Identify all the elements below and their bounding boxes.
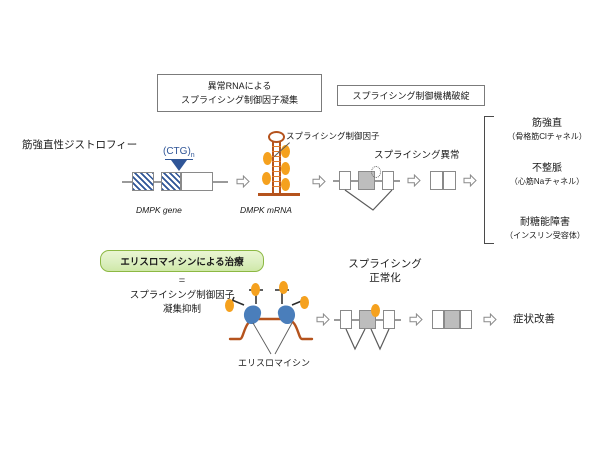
treatment-callout: エリスロマイシンによる治療 — [100, 250, 264, 272]
gene-utr-region — [181, 172, 213, 191]
outcome-item-glucose-intolerance: 耐糖能障害 （インスリン受容体） — [492, 217, 598, 242]
premrna-backbone-end-top — [394, 180, 400, 182]
product-segment-top — [430, 171, 443, 190]
figure-canvas: 異常RNAによる スプライシング制御因子凝集 スプライシング制御機構破綻 筋強直… — [0, 0, 600, 450]
callout-splicing-breakdown-label: スプライシング制御機構破綻 — [352, 89, 469, 103]
outcome-name: 不整脈 — [499, 163, 595, 175]
splicing-normal-label: スプライシング 正常化 — [330, 258, 440, 284]
premrna-exon-1-top — [339, 171, 351, 190]
callout-abnormal-rna-line2: スプライシング制御因子凝集 — [181, 93, 298, 107]
splicing-factor-oval — [263, 152, 272, 165]
splicing-factor-oval — [281, 178, 290, 191]
symptom-improvement-label: 症状改善 — [513, 313, 555, 325]
splicing-abnormal-label: スプライシング異常 — [374, 150, 460, 162]
ctg-repeat-subscript: n — [191, 152, 195, 159]
mrna-rung — [272, 146, 281, 147]
arrow-premrna-to-product-bottom — [409, 313, 423, 326]
treatment-callout-label: エリスロマイシンによる治療 — [120, 254, 243, 268]
outcome-item-myotonia: 筋強直 （骨格筋Clチャネル） — [499, 118, 595, 143]
product-segment-bottom — [432, 310, 444, 329]
premrna-exon-3-top — [382, 171, 394, 190]
premrna-backbone-end-bottom — [395, 319, 401, 321]
arrow-gene-to-mrna — [236, 175, 250, 188]
erythromycin-label: エリスロマイシン — [218, 357, 330, 369]
ctg-triangle-marker — [171, 160, 187, 171]
free-splicing-factor-oval — [251, 283, 260, 296]
disease-title: 筋強直性ジストロフィー — [22, 139, 137, 151]
gene-label: DMPK gene — [136, 204, 182, 216]
free-splicing-factor-oval — [300, 296, 309, 309]
equals-sign: = — [100, 275, 264, 287]
gene-exon-1 — [132, 172, 154, 191]
outcome-name: 筋強直 — [499, 118, 595, 130]
splicing-abnormal-text: スプライシング異常 — [374, 150, 460, 161]
callout-abnormal-rna-line1: 異常RNAによる — [208, 79, 272, 93]
callout-splicing-breakdown: スプライシング制御機構破綻 — [337, 85, 485, 106]
equals-sign-text: = — [179, 275, 185, 287]
premrna-exon-3-bottom — [383, 310, 395, 329]
arrow-mrna-to-premrna — [312, 175, 326, 188]
premrna-intron-2-bottom — [376, 319, 383, 321]
gene-label-text: DMPK gene — [136, 205, 182, 215]
callout-abnormal-rna: 異常RNAによる スプライシング制御因子凝集 — [157, 74, 322, 112]
mrna-label: DMPK mRNA — [240, 204, 292, 216]
splicing-factor-label: スプライシング制御因子 — [286, 130, 380, 142]
mrna-label-text: DMPK mRNA — [240, 205, 292, 215]
gene-backbone-left — [122, 181, 132, 183]
mrna-rung — [272, 161, 281, 162]
arrow-product-to-improvement — [483, 313, 497, 326]
splicing-normal-line1: スプライシング — [330, 258, 440, 270]
outcome-detail: （インスリン受容体） — [492, 230, 598, 242]
premrna-intron-1-top — [351, 180, 358, 182]
arrow-premrna-to-product-top — [407, 174, 421, 187]
splicing-factor-oval — [281, 162, 290, 175]
splicing-factor-label-text: スプライシング制御因子 — [286, 131, 380, 141]
splicing-factor-oval — [262, 172, 271, 185]
mrna-loop — [268, 131, 285, 143]
outcome-detail: （心筋Naチャネル） — [499, 176, 595, 188]
premrna-exon-1-bottom — [340, 310, 352, 329]
splicing-normal-line2: 正常化 — [330, 272, 440, 284]
product-segment-bottom — [460, 310, 472, 329]
arrow-treatment-to-premrna — [316, 313, 330, 326]
product-segment-bottom-included-exon — [444, 310, 460, 329]
ctg-repeat-label: (CTG)n — [163, 146, 195, 159]
outcome-detail: （骨格筋Clチャネル） — [499, 131, 595, 143]
bound-splicing-factor-oval — [371, 304, 380, 317]
erythromycin-label-text: エリスロマイシン — [238, 358, 310, 368]
premrna-intron-1-bottom — [352, 319, 359, 321]
exon-skipping-splice-path — [340, 189, 410, 213]
free-splicing-factor-oval — [279, 281, 288, 294]
product-segment-top — [443, 171, 456, 190]
mrna-rung — [272, 186, 281, 187]
gene-intron-1 — [154, 181, 161, 183]
symptom-improvement-text: 症状改善 — [513, 313, 555, 325]
premrna-intron-2-top — [375, 180, 382, 182]
outcome-name: 耐糖能障害 — [492, 217, 598, 229]
mrna-rung — [272, 166, 281, 167]
mrna-rung — [272, 171, 281, 172]
mrna-rung — [272, 181, 281, 182]
gene-exon-2 — [161, 172, 181, 191]
mrna-rung — [272, 176, 281, 177]
outcome-item-arrhythmia: 不整脈 （心筋Naチャネル） — [499, 163, 595, 188]
intron-removal-splice-paths — [341, 328, 407, 352]
erythromycin-leader-lines — [244, 322, 304, 356]
gene-backbone-right — [213, 181, 228, 183]
free-splicing-factor-oval — [225, 299, 234, 312]
dissociated-factor-marker — [371, 166, 381, 178]
ctg-repeat-text: (CTG) — [163, 146, 191, 157]
arrow-product-to-outcomes — [463, 174, 477, 187]
